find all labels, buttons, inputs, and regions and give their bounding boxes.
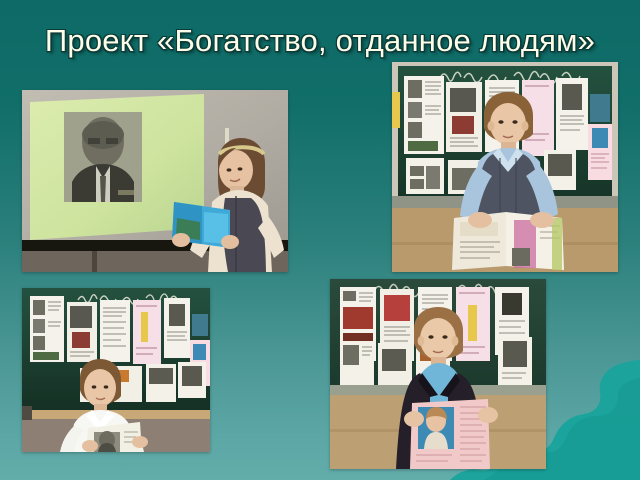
photo-boy-holding-page [330,279,546,469]
slide-canvas: Проект «Богатство, отданное людям» [0,0,640,480]
page-title: Проект «Богатство, отданное людям» [42,22,598,60]
photo-boy-reading-sheet [22,288,210,452]
photo-projector-presentation [22,90,288,272]
photo-boy-with-notebook [392,62,618,272]
